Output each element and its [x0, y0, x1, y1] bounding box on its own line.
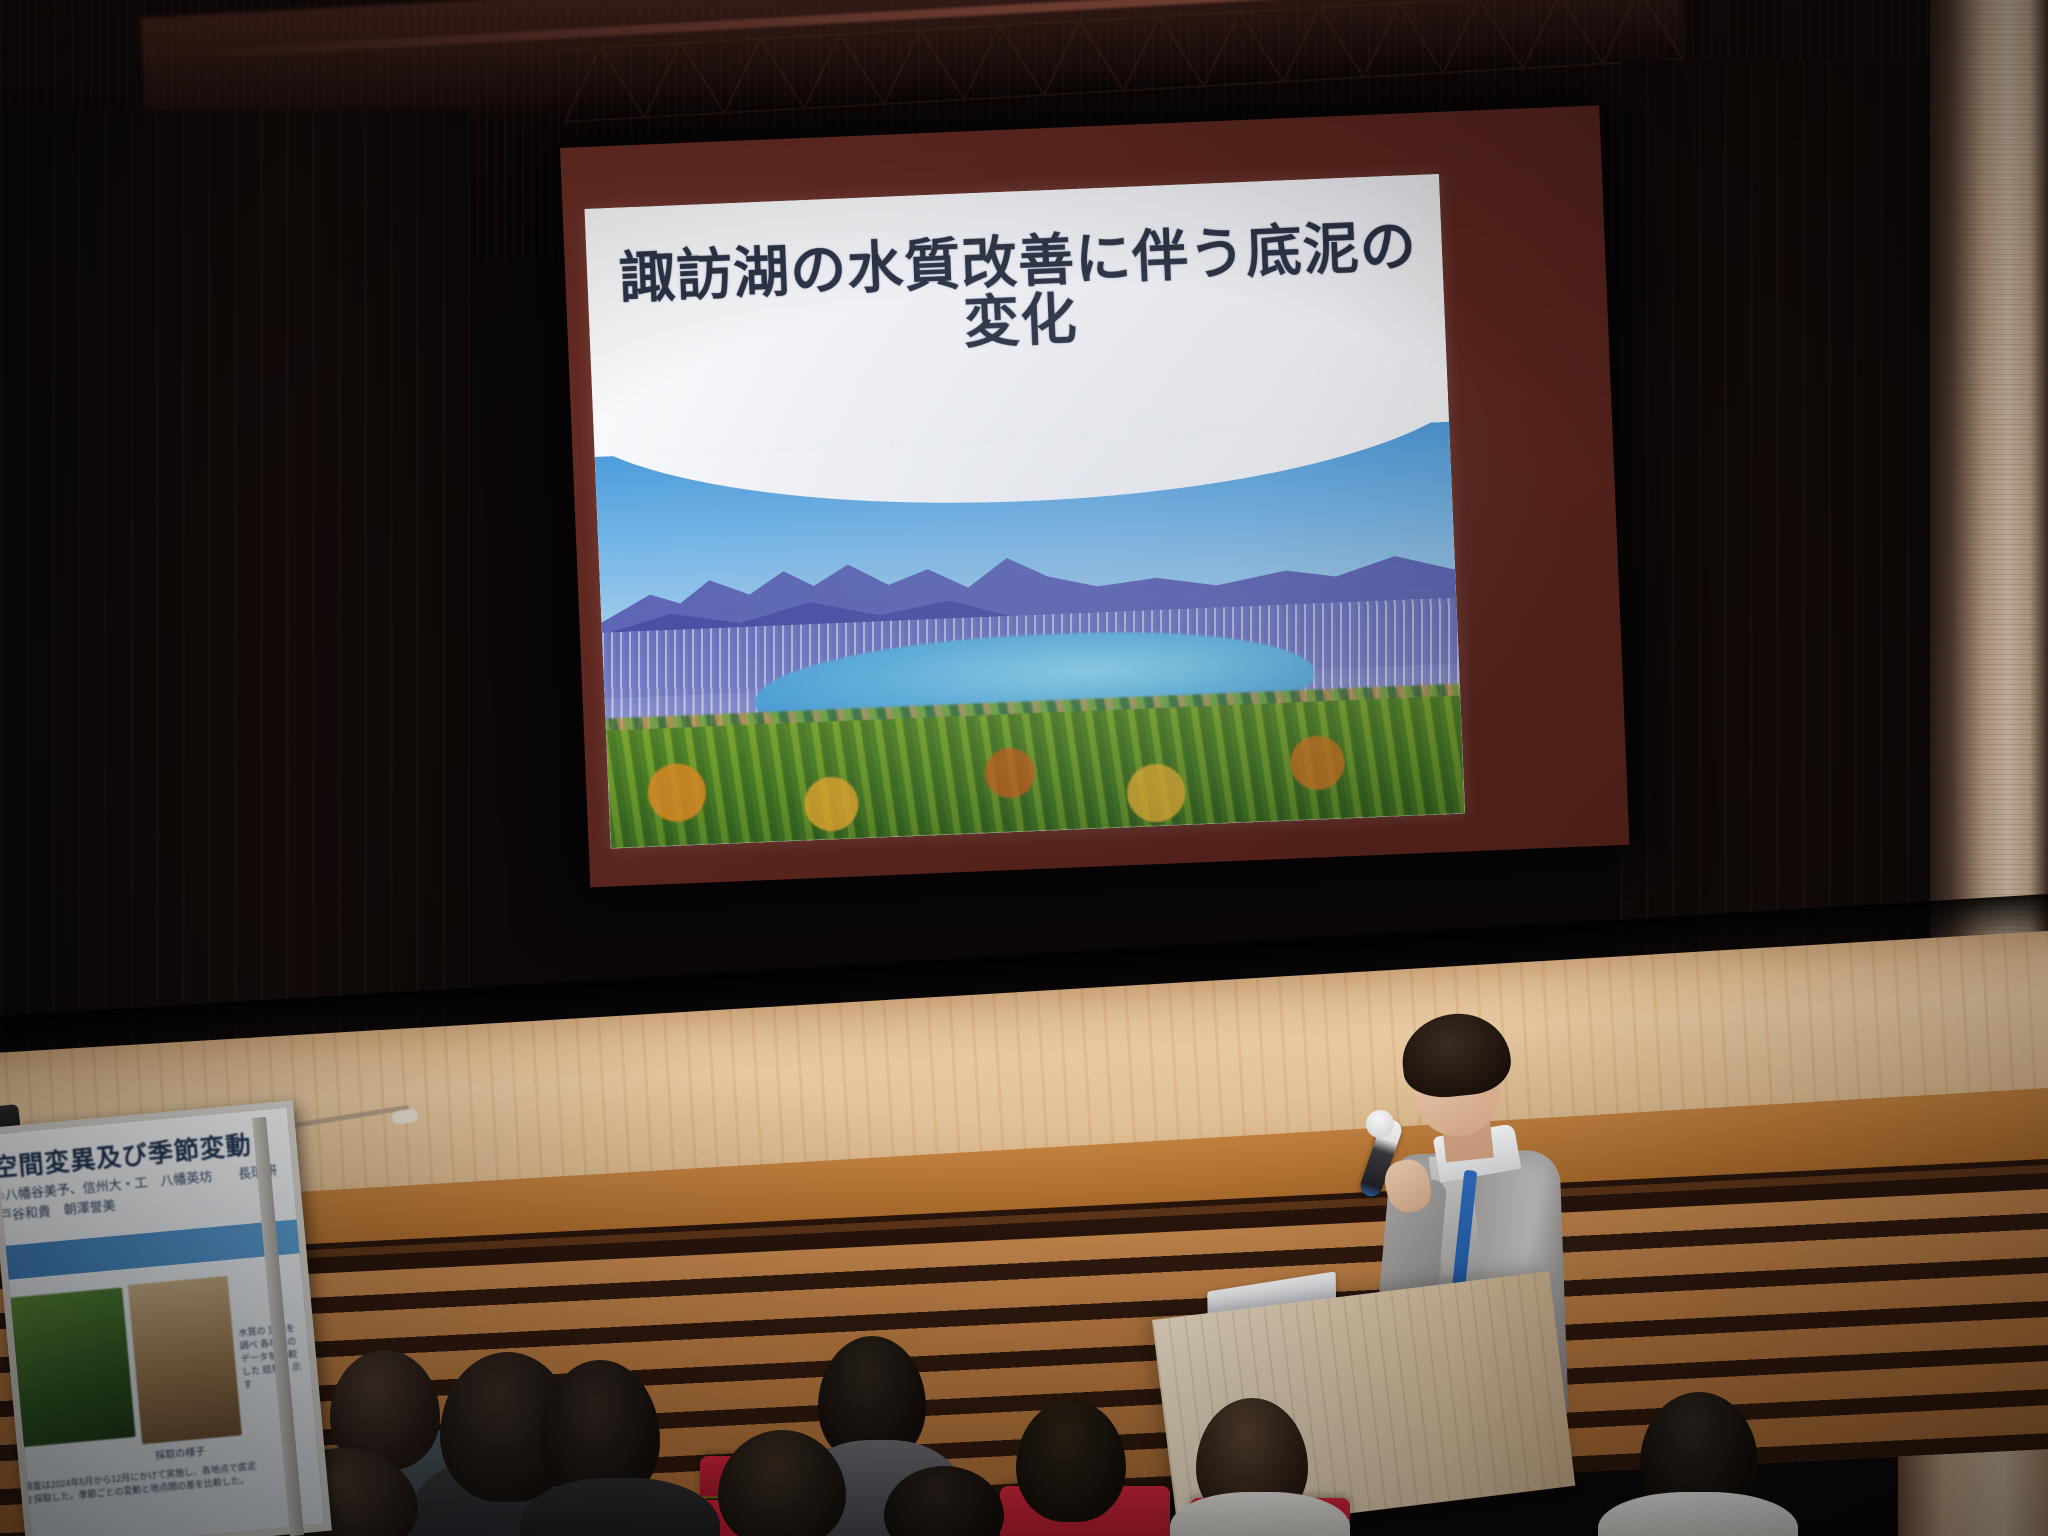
slide-landscape-photo — [595, 422, 1465, 849]
poster-figure-caption: 採取の様子 — [155, 1443, 206, 1462]
presentation-slide: 諏訪湖の水質改善に伴う底泥の変化 2025.10.5 施設公開・研究成果発表 長… — [585, 174, 1466, 849]
projection-screen-surface: 諏訪湖の水質改善に伴う底泥の変化 2025.10.5 施設公開・研究成果発表 長… — [585, 174, 1466, 849]
auditorium-photo: 諏訪湖の水質改善に伴う底泥の変化 2025.10.5 施設公開・研究成果発表 長… — [0, 0, 2048, 1536]
poster-photo-center — [128, 1276, 242, 1444]
poster-color-band — [0, 1219, 302, 1280]
slide-title: 諏訪湖の水質改善に伴う底泥の変化 — [612, 217, 1426, 368]
projection-screen-frame: 諏訪湖の水質改善に伴う底泥の変化 2025.10.5 施設公開・研究成果発表 長… — [560, 105, 1629, 887]
audience-person — [1598, 1492, 1798, 1536]
poster-body-text: 調査は2024年5月から12月にかけて実施し、各地点で底泥を採取した。季節ごとの… — [23, 1460, 264, 1508]
poster-photo-left — [4, 1288, 135, 1448]
